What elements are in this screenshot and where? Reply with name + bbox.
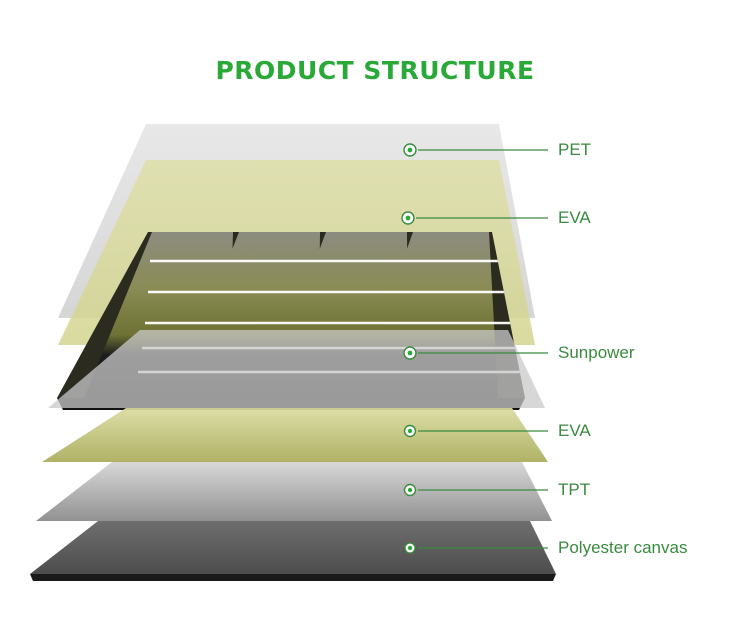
marker-sunpower (404, 347, 416, 359)
layer-label-tpt: TPT (558, 480, 590, 500)
layer-label-eva-bottom: EVA (558, 421, 591, 441)
marker-pet (404, 144, 416, 156)
layer-label-polyester-canvas: Polyester canvas (558, 538, 687, 558)
layer-shape-polyester-canvas (30, 521, 556, 581)
layer-label-eva-top: EVA (558, 208, 591, 228)
marker-polyester-canvas (405, 543, 415, 553)
layer-label-sunpower: Sunpower (558, 343, 635, 363)
layer-shape-tpt (36, 462, 552, 521)
diagram-canvas: PRODUCT STRUCTURE (0, 0, 750, 639)
marker-eva-top (402, 212, 414, 224)
marker-eva-bottom (405, 426, 416, 437)
marker-tpt (405, 485, 416, 496)
layer-shape-eva-bottom (42, 408, 548, 462)
layer-label-pet: PET (558, 140, 591, 160)
